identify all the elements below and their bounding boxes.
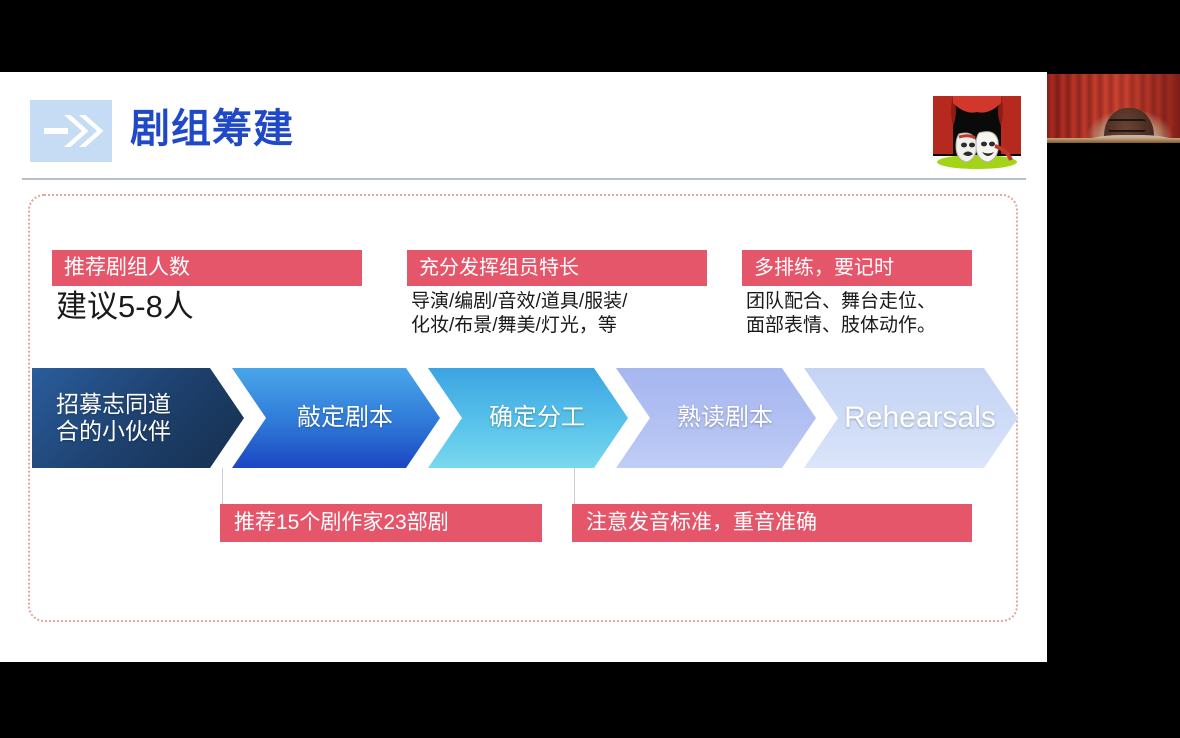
page-title: 剧组筹建 <box>130 98 294 160</box>
glasses-icon <box>1108 119 1146 132</box>
process-step-3: 确定分工 <box>428 368 628 468</box>
letterbox-bottom <box>1047 143 1180 165</box>
double-chevron-right-icon <box>30 100 112 162</box>
info-card-2-body: 导演/编剧/音效/道具/服装/ 化妆/布景/舞美/灯光，等 <box>407 286 707 338</box>
bottom-banner-1: 推荐15个剧作家23部剧 <box>220 504 542 542</box>
process-step-2: 敲定剧本 <box>232 368 440 468</box>
process-step-4: 熟读剧本 <box>616 368 816 468</box>
meeting-screen-share-view: 剧组筹建 <box>0 0 1180 738</box>
participant-video-thumbnail[interactable] <box>1047 60 1180 165</box>
info-card-3: 多排练，要记时 团队配合、舞台走位、 面部表情、肢体动作。 <box>742 250 972 338</box>
process-step-2-label: 敲定剧本 <box>232 404 440 432</box>
info-card-1: 推荐剧组人数 建议5-8人 <box>52 250 362 327</box>
info-card-2-banner: 充分发挥组员特长 <box>407 250 707 286</box>
info-card-3-body: 团队配合、舞台走位、 面部表情、肢体动作。 <box>742 286 972 338</box>
presentation-slide: 剧组筹建 <box>0 72 1047 662</box>
connector-tick-1 <box>222 468 223 504</box>
info-card-1-body: 建议5-8人 <box>52 286 362 327</box>
info-card-3-banner: 多排练，要记时 <box>742 250 972 286</box>
slide-header: 剧组筹建 <box>30 98 1020 176</box>
process-step-5-label: Rehearsals <box>804 400 1018 435</box>
bottom-banner-2: 注意发音标准，重音准确 <box>572 504 972 542</box>
process-step-3-label: 确定分工 <box>428 404 628 432</box>
theatre-masks-curtain-icon <box>929 94 1025 170</box>
process-step-5: Rehearsals <box>804 368 1018 468</box>
process-step-1: 招募志同道 合的小伙伴 <box>32 368 244 468</box>
header-divider <box>22 178 1026 180</box>
info-card-1-banner: 推荐剧组人数 <box>52 250 362 286</box>
process-chevron-row: 招募志同道 合的小伙伴 敲定剧本 确定分工 熟读剧本 Rehearsals <box>32 368 1018 468</box>
process-step-1-label: 招募志同道 合的小伙伴 <box>32 391 244 445</box>
connector-tick-2 <box>574 468 575 504</box>
process-step-4-label: 熟读剧本 <box>616 404 816 432</box>
letterbox-top <box>1047 60 1180 74</box>
info-card-2: 充分发挥组员特长 导演/编剧/音效/道具/服装/ 化妆/布景/舞美/灯光，等 <box>407 250 707 338</box>
